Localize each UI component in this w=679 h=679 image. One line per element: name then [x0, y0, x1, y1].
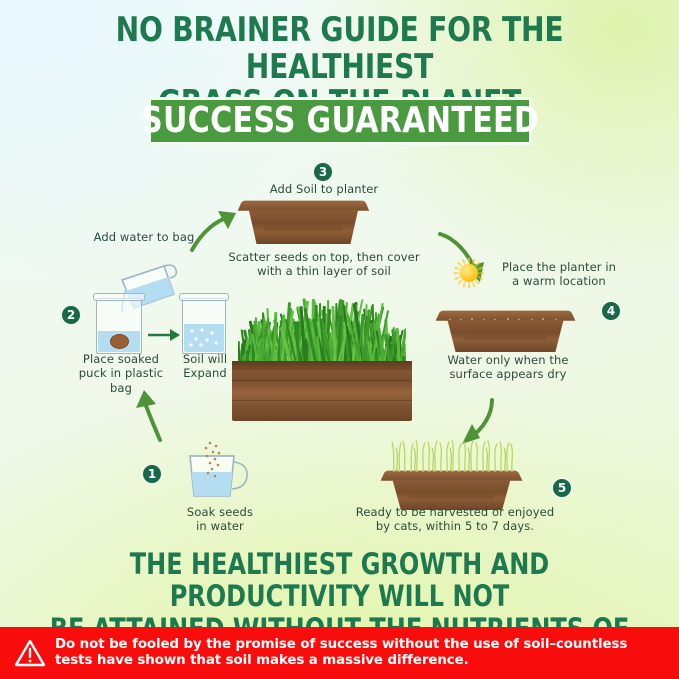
warning-bar: Do not be fooled by the promise of succe…: [0, 627, 679, 679]
planter-body: [249, 210, 358, 244]
warning-line-2: tests have shown that soil makes a massi…: [55, 653, 627, 669]
empty-planter-icon: [240, 200, 367, 244]
planter-shading: [409, 491, 494, 499]
step-badge-4-number: 4: [607, 304, 615, 318]
expanded-soil-specks: [188, 328, 220, 348]
step-badge-3-number: 3: [319, 165, 327, 179]
planter-with-grown-grass-icon: [383, 470, 520, 510]
arrow-right-icon: [148, 327, 182, 343]
arrow-curve-up-right-icon: [188, 202, 244, 258]
step-3-caption: Scatter seeds on top, then cover with a …: [224, 250, 424, 279]
step-3-title: Add Soil to planter: [248, 182, 400, 196]
measuring-cup-with-seeds-icon: [182, 440, 256, 502]
sun-icon: [454, 258, 484, 288]
infographic-canvas: NO BRAINER GUIDE FOR THE HEALTHIEST GRAS…: [0, 0, 679, 679]
planter-shading: [464, 332, 548, 340]
grown-grass-tuft: [388, 438, 516, 472]
step-badge-1: 1: [141, 463, 163, 485]
sprout-row: [446, 311, 565, 320]
warning-line-1: Do not be fooled by the promise of succe…: [55, 637, 627, 653]
step-4-caption: Water only when the surface appears dry: [438, 353, 578, 382]
step-1-caption: Soak seeds in water: [160, 505, 280, 534]
planter-rim: [238, 201, 370, 211]
step-badge-2-number: 2: [67, 308, 75, 322]
warning-text: Do not be fooled by the promise of succe…: [55, 637, 627, 670]
banner-label: SUCCESS GUARANTEED: [141, 103, 539, 139]
planter-rim: [381, 471, 523, 481]
planter-box-body: [232, 361, 412, 421]
title-line-1: NO BRAINER GUIDE FOR THE HEALTHIEST: [116, 10, 564, 87]
step-badge-1-number: 1: [148, 467, 156, 481]
arrow-curve-up-left-icon: [130, 388, 176, 444]
warning-triangle-icon: [14, 638, 46, 668]
step-4-title: Place the planter in a warm location: [484, 260, 634, 289]
step-badge-5: 5: [551, 477, 573, 499]
lush-grass: [238, 296, 406, 368]
wooden-planter-with-lush-grass: [232, 296, 412, 421]
step-badge-5-number: 5: [558, 481, 566, 495]
step-badge-3: 3: [312, 161, 334, 183]
step-2-caption-right: Soil will Expand: [170, 352, 240, 381]
success-guaranteed-banner: SUCCESS GUARANTEED: [148, 97, 532, 145]
step-badge-4: 4: [600, 300, 622, 322]
step-5-caption: Ready to be harvested or enjoyed by cats…: [355, 505, 555, 534]
soil-puck: [110, 334, 129, 349]
planter-body: [447, 320, 563, 352]
planter-with-sprouts-icon: [438, 310, 573, 352]
step-badge-2: 2: [60, 304, 82, 326]
planter-box-rim: [232, 361, 412, 370]
footer-line-1: THE HEALTHIEST GROWTH AND PRODUCTIVITY W…: [130, 547, 549, 613]
planter-shading: [264, 222, 343, 231]
